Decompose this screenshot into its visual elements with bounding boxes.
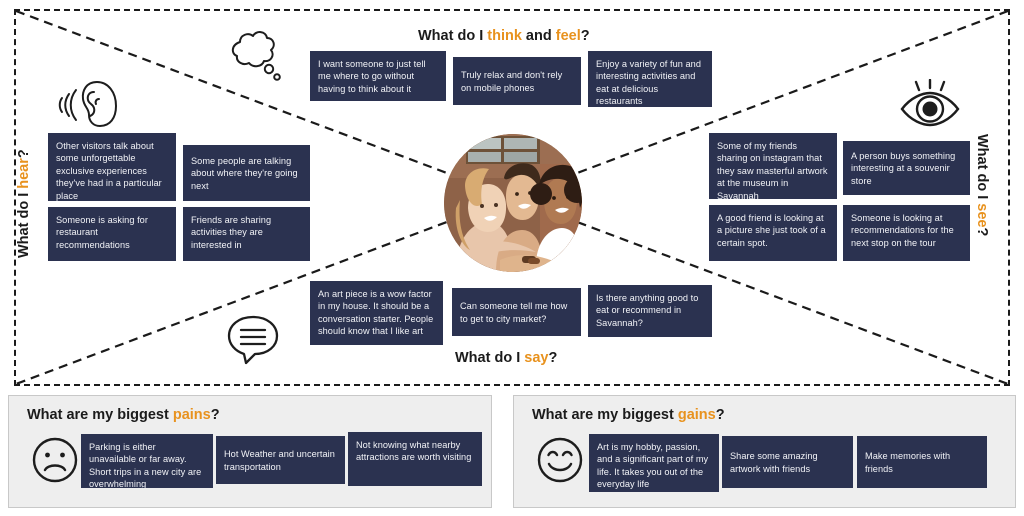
title-suffix: ?	[974, 227, 990, 236]
panel-pains: What are my biggest pains? Parking is ei…	[8, 395, 492, 508]
title-prefix: What do I	[455, 350, 524, 366]
quadrant-title-say: What do I say?	[455, 350, 557, 366]
note-say-3[interactable]: Is there anything good to eat or recomme…	[588, 285, 712, 337]
note-see-3[interactable]: A good friend is looking at a picture sh…	[709, 205, 837, 261]
quadrant-title-think-feel: What do I think and feel?	[418, 28, 590, 44]
quadrant-title-hear: What do I hear?	[16, 149, 32, 258]
note-see-4[interactable]: Someone is looking at recommendations fo…	[843, 205, 970, 261]
panel-title-pains: What are my biggest pains?	[27, 407, 220, 423]
panel-gains: What are my biggest gains? Art is my hob…	[513, 395, 1016, 508]
title-accent-think: think	[487, 28, 522, 44]
title-prefix: What do I	[418, 28, 487, 44]
note-pain-2[interactable]: Hot Weather and uncertain transportation	[216, 436, 345, 484]
note-think-feel-2[interactable]: Truly relax and don't rely on mobile pho…	[453, 57, 581, 105]
title-accent-see: see	[974, 203, 990, 227]
quadrant-title-see: What do I see?	[974, 134, 990, 236]
note-gain-3[interactable]: Make memories with friends	[857, 436, 987, 488]
note-pain-3[interactable]: Not knowing what nearby attractions are …	[348, 432, 482, 486]
persona-photo	[444, 134, 582, 272]
sad-face-icon	[31, 436, 79, 489]
note-see-2[interactable]: A person buys something interesting at a…	[843, 141, 970, 195]
note-pain-1[interactable]: Parking is either unavailable or far awa…	[81, 434, 213, 488]
title-suffix: ?	[716, 407, 725, 423]
title-suffix: ?	[548, 350, 557, 366]
title-suffix: ?	[211, 407, 220, 423]
title-prefix: What are my biggest	[532, 407, 678, 423]
thought-cloud-icon	[222, 28, 284, 91]
title-prefix: What do I	[974, 134, 990, 203]
title-suffix: ?	[16, 149, 32, 158]
title-middle: and	[522, 28, 556, 44]
speech-bubble-icon	[224, 313, 282, 370]
ear-icon	[56, 76, 124, 137]
eye-icon	[897, 79, 963, 136]
note-hear-2[interactable]: Some people are talking about where they…	[183, 145, 310, 201]
title-prefix: What do I	[16, 189, 32, 258]
title-suffix: ?	[581, 28, 590, 44]
note-hear-4[interactable]: Friends are sharing activities they are …	[183, 207, 310, 261]
note-say-1[interactable]: An art piece is a wow factor in my house…	[310, 281, 443, 345]
title-accent-say: say	[524, 350, 548, 366]
title-accent-gains: gains	[678, 407, 716, 423]
title-prefix: What are my biggest	[27, 407, 173, 423]
title-accent-feel: feel	[556, 28, 581, 44]
note-hear-1[interactable]: Other visitors talk about some unforgett…	[48, 133, 176, 201]
note-hear-3[interactable]: Someone is asking for restaurant recomme…	[48, 207, 176, 261]
panel-title-gains: What are my biggest gains?	[532, 407, 725, 423]
title-accent-hear: hear	[16, 158, 32, 189]
happy-face-icon	[536, 436, 584, 489]
note-think-feel-1[interactable]: I want someone to just tell me where to …	[310, 51, 446, 101]
note-gain-1[interactable]: Art is my hobby, passion, and a signific…	[589, 434, 719, 492]
note-say-2[interactable]: Can someone tell me how to get to city m…	[452, 288, 581, 336]
note-see-1[interactable]: Some of my friends sharing on instagram …	[709, 133, 837, 199]
title-accent-pains: pains	[173, 407, 211, 423]
note-think-feel-3[interactable]: Enjoy a variety of fun and interesting a…	[588, 51, 712, 107]
note-gain-2[interactable]: Share some amazing artwork with friends	[722, 436, 853, 488]
